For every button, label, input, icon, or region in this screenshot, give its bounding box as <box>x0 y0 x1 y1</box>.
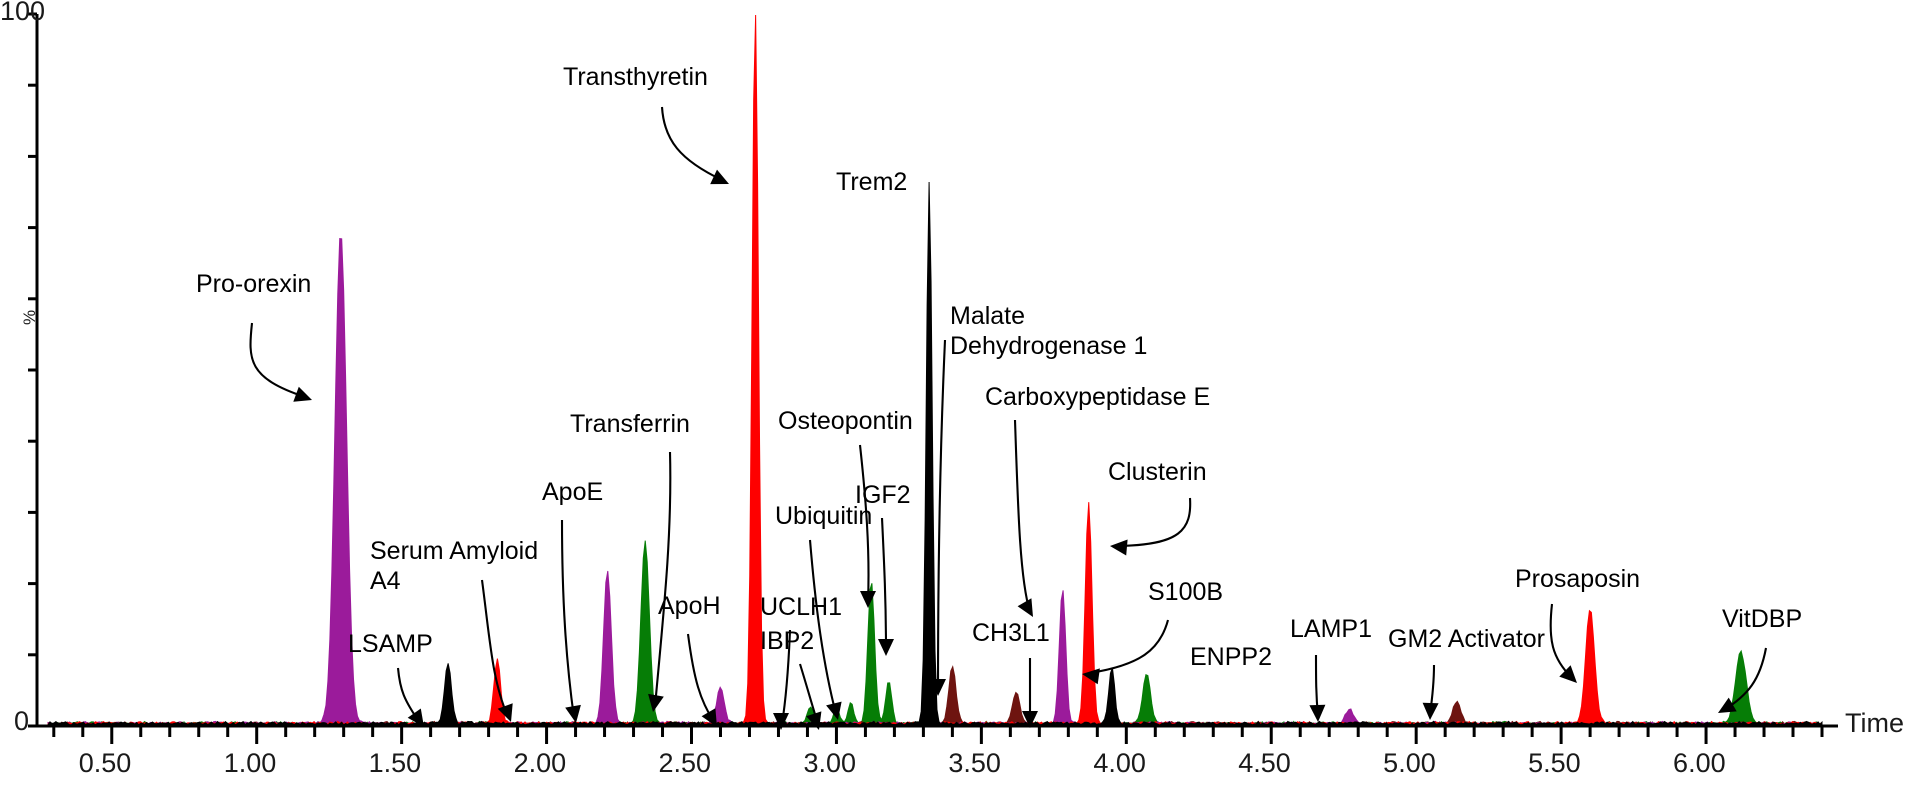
annotation-vitdbp: VitDBP <box>1722 605 1802 635</box>
annotation-line: LSAMP <box>348 630 433 660</box>
annotation-line: Prosaposin <box>1515 565 1640 595</box>
annotation-line: IBP2 <box>760 627 814 657</box>
annotation-line: LAMP1 <box>1290 615 1372 645</box>
leader-arrowhead-apoe <box>565 705 581 723</box>
annotation-line: Dehydrogenase 1 <box>950 332 1147 362</box>
annotation-prosaposin: Prosaposin <box>1515 565 1640 595</box>
annotation-trem2: Trem2 <box>836 168 907 198</box>
x-tick-label: 3.00 <box>803 748 856 779</box>
x-tick-label: 4.50 <box>1238 748 1291 779</box>
annotation-line: Transthyretin <box>563 63 708 93</box>
x-tick-label: 3.50 <box>948 748 1001 779</box>
annotation-lamp1: LAMP1 <box>1290 615 1372 645</box>
annotation-malate-dehydrogenase: MalateDehydrogenase 1 <box>950 302 1147 361</box>
y-axis-max-label: 100 <box>0 0 45 27</box>
leader-line-pro-orexin <box>251 323 305 397</box>
leader-arrowhead-pro-orexin <box>293 387 312 402</box>
annotation-gm2-activator: GM2 Activator <box>1388 625 1545 655</box>
leader-line-malate-dehydrogenase <box>938 340 945 690</box>
annotation-apoh: ApoH <box>658 592 721 622</box>
annotation-pro-orexin: Pro-orexin <box>196 270 311 300</box>
annotation-carboxypeptidase-e: Carboxypeptidase E <box>985 383 1210 413</box>
peak-traces <box>48 15 1822 726</box>
annotation-line: GM2 Activator <box>1388 625 1545 655</box>
leader-arrowhead-gm2-activator <box>1423 703 1439 720</box>
annotation-line: ENPP2 <box>1190 643 1272 673</box>
annotation-line: Carboxypeptidase E <box>985 383 1210 413</box>
x-tick-label: 2.00 <box>514 748 567 779</box>
annotation-uclh1: UCLH1 <box>760 593 842 623</box>
annotation-line: ApoE <box>542 478 603 508</box>
leader-line-apoh <box>688 634 714 722</box>
annotation-transthyretin: Transthyretin <box>563 63 708 93</box>
annotation-line: CH3L1 <box>972 619 1050 649</box>
annotation-clusterin: Clusterin <box>1108 458 1207 488</box>
annotation-line: A4 <box>370 567 538 597</box>
leader-arrowhead-carboxypeptidase-e <box>1018 598 1033 617</box>
leader-arrowhead-lamp1 <box>1309 705 1325 722</box>
leader-arrowhead-clusterin <box>1110 540 1128 556</box>
leader-line-transthyretin <box>662 107 722 180</box>
annotation-line: UCLH1 <box>760 593 842 623</box>
leader-line-clusterin <box>1118 498 1190 546</box>
x-tick-label: 1.50 <box>369 748 422 779</box>
x-axis-title: Time <box>1845 708 1904 739</box>
y-axis-title: % <box>20 310 40 325</box>
annotation-ibp2: IBP2 <box>760 627 814 657</box>
x-tick-label: 6.00 <box>1673 748 1726 779</box>
y-axis-min-label: 0 <box>14 706 29 737</box>
annotation-line: ApoH <box>658 592 721 622</box>
annotation-enpp2: ENPP2 <box>1190 643 1272 673</box>
annotation-line: IGF2 <box>855 481 911 511</box>
annotation-line: VitDBP <box>1722 605 1802 635</box>
x-tick-label: 2.50 <box>659 748 712 779</box>
leader-arrowhead-igf2 <box>878 639 894 656</box>
leader-line-apoe <box>562 520 574 718</box>
annotation-line: Malate <box>950 302 1147 332</box>
leader-line-carboxypeptidase-e <box>1015 420 1030 612</box>
annotation-line: Pro-orexin <box>196 270 311 300</box>
annotation-ch3l1: CH3L1 <box>972 619 1050 649</box>
annotation-line: Osteopontin <box>778 407 913 437</box>
annotation-transferrin: Transferrin <box>570 410 690 440</box>
x-tick-label: 1.00 <box>224 748 277 779</box>
leader-line-transferrin <box>655 452 670 706</box>
annotation-line: Clusterin <box>1108 458 1207 488</box>
annotation-lsamp: LSAMP <box>348 630 433 660</box>
x-tick-label: 5.00 <box>1383 748 1436 779</box>
x-tick-label: 0.50 <box>79 748 132 779</box>
chromatogram-figure: 100 0 % Time 0.501.001.502.002.503.003.5… <box>0 0 1915 793</box>
chromatogram-plot <box>0 0 1915 793</box>
annotation-serum-amyloid-a4: Serum AmyloidA4 <box>370 537 538 596</box>
annotation-igf2: IGF2 <box>855 481 911 511</box>
annotation-line: Trem2 <box>836 168 907 198</box>
trace-black <box>48 182 1822 726</box>
annotation-apoe: ApoE <box>542 478 603 508</box>
leader-line-s100b <box>1090 620 1168 673</box>
x-tick-label: 4.00 <box>1093 748 1146 779</box>
leader-arrowhead-prosaposin <box>1559 665 1577 683</box>
x-tick-label: 5.50 <box>1528 748 1581 779</box>
annotation-s100b: S100B <box>1148 578 1223 608</box>
leader-line-igf2 <box>882 518 886 650</box>
annotation-line: Serum Amyloid <box>370 537 538 567</box>
annotation-line: S100B <box>1148 578 1223 608</box>
annotation-osteopontin: Osteopontin <box>778 407 913 437</box>
annotation-line: Transferrin <box>570 410 690 440</box>
leader-line-prosaposin <box>1551 604 1572 678</box>
leader-arrowhead-transthyretin <box>710 170 729 185</box>
